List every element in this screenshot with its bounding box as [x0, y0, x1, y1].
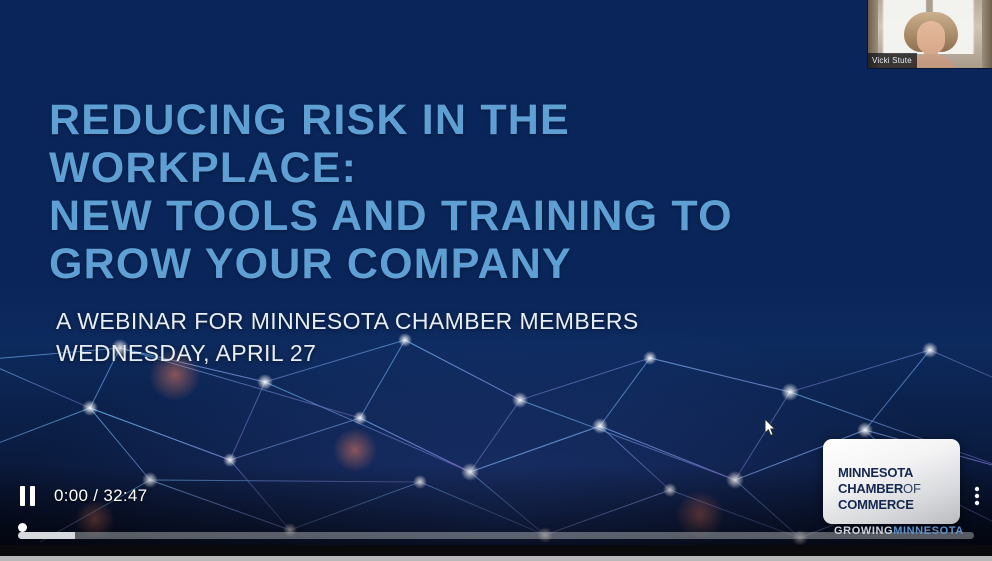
tagline-growing: GROWING	[834, 525, 893, 537]
page-bottom-black-bar	[0, 545, 992, 556]
seek-bar[interactable]	[18, 524, 974, 546]
headline-line-2: WORKPLACE:	[49, 144, 929, 192]
page-bottom-strip	[0, 556, 992, 561]
logo-line-2-bold: CHAMBER	[838, 481, 903, 496]
left-controls-group: 0:00 / 32:47	[14, 483, 147, 509]
slide-subtitle: A WEBINAR FOR MINNESOTA CHAMBER MEMBERS …	[56, 305, 639, 369]
seek-handle[interactable]	[18, 523, 27, 532]
subtitle-line-1: A WEBINAR FOR MINNESOTA CHAMBER MEMBERS	[56, 305, 639, 337]
time-display: 0:00 / 32:47	[54, 486, 147, 506]
pause-icon[interactable]	[14, 483, 40, 509]
channel-logo-card[interactable]: MINNESOTA CHAMBEROF COMMERCE	[823, 439, 960, 524]
seek-buffered-range	[18, 532, 75, 539]
logo-line-1: MINNESOTA	[838, 465, 921, 481]
more-vertical-icon[interactable]	[968, 483, 986, 514]
tagline-minnesota: MINNESOTA	[893, 525, 964, 537]
seek-track[interactable]	[18, 532, 974, 539]
subtitle-line-2: WEDNESDAY, APRIL 27	[56, 337, 639, 369]
chamber-logo-text: MINNESOTA CHAMBEROF COMMERCE	[838, 465, 921, 513]
video-player[interactable]: REDUCING RISK IN THE WORKPLACE: NEW TOOL…	[0, 0, 992, 561]
logo-line-3: COMMERCE	[838, 497, 921, 513]
logo-line-2-light: OF	[903, 481, 921, 496]
logo-tagline: GROWINGMINNESOTA	[834, 525, 964, 537]
headline-line-4: GROW YOUR COMPANY	[49, 240, 929, 288]
headline-line-1: REDUCING RISK IN THE	[49, 96, 570, 144]
presenter-name-badge: Vicki Stute	[868, 53, 917, 68]
window-frame-right	[982, 0, 992, 68]
slide-headline: REDUCING RISK IN THE WORKPLACE: NEW TOOL…	[49, 96, 929, 288]
headline-line-3: NEW TOOLS AND TRAINING TO	[49, 192, 929, 240]
